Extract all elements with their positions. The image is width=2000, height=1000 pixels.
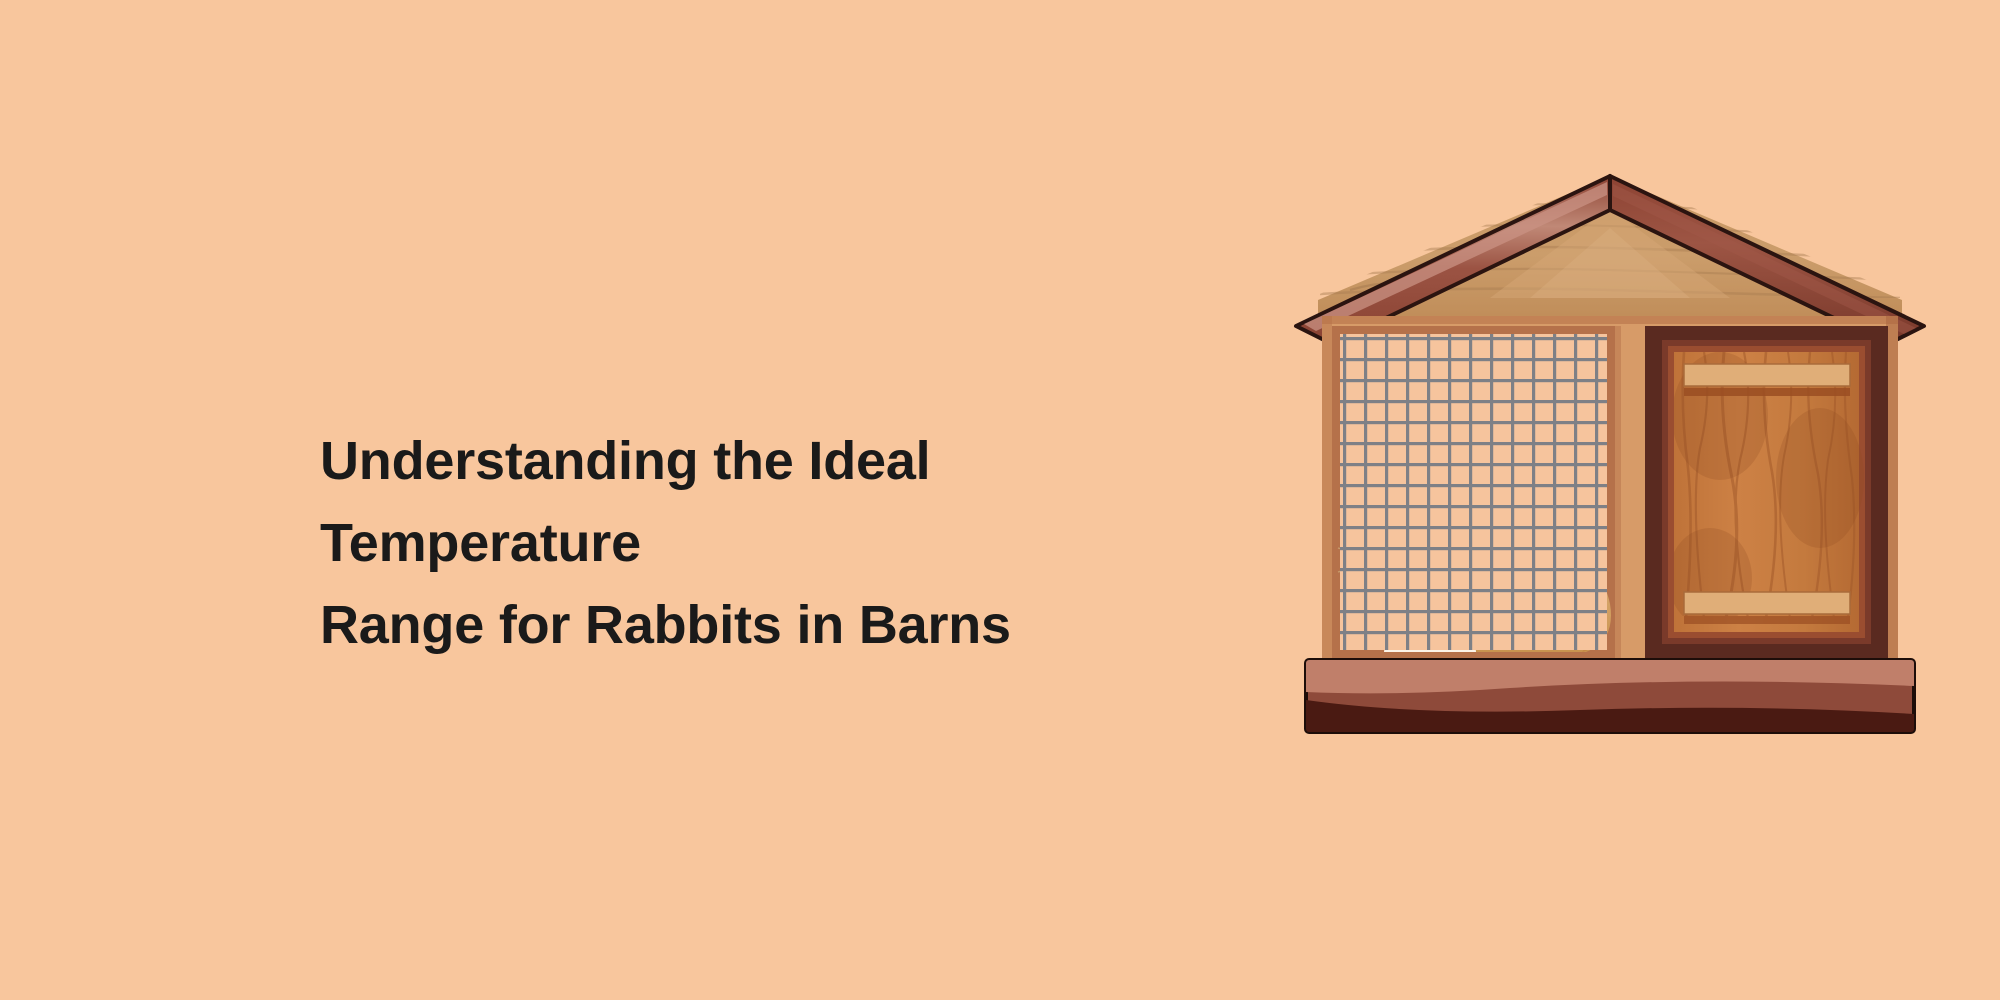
page-title: Understanding the Ideal Temperature Rang… bbox=[320, 420, 1260, 666]
mesh-wire-overlay bbox=[1340, 334, 1607, 650]
rabbit-hutch-illustration bbox=[1280, 148, 1940, 838]
banner-canvas: Understanding the Ideal Temperature Rang… bbox=[0, 0, 2000, 1000]
wire-mesh-panel bbox=[1338, 334, 1611, 652]
hutch-door[interactable] bbox=[1645, 326, 1888, 658]
hutch-base bbox=[1306, 660, 1914, 732]
